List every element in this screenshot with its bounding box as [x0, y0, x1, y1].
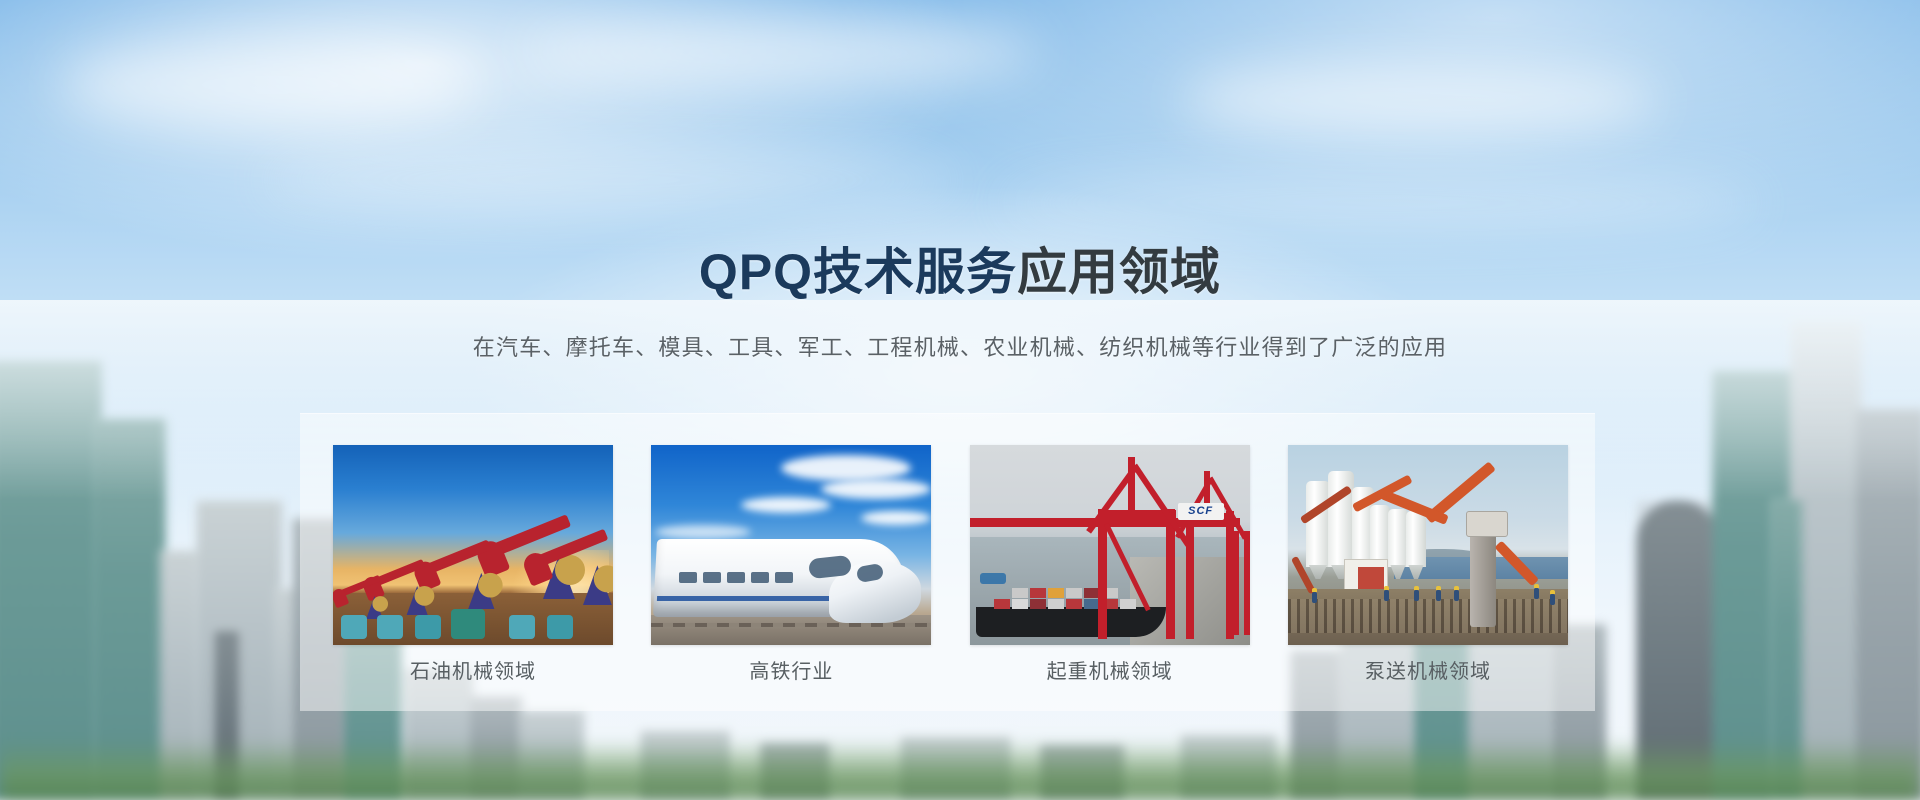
page-subtitle: 在汽车、摩托车、模具、工具、军工、工程机械、农业机械、纺织机械等行业得到了广泛的… [0, 330, 1920, 362]
list-item[interactable] [1288, 445, 1568, 645]
page-title-primary: QPQ技术服务 [699, 244, 1017, 300]
list-item[interactable] [651, 445, 931, 645]
list-item[interactable]: SCF [970, 445, 1250, 645]
port-gantry-cranes-photo: SCF [970, 445, 1250, 645]
card-caption-rail: 高铁行业 [651, 655, 931, 684]
card-caption-oil: 石油机械领域 [333, 655, 613, 684]
crane-brand-label: SCF [1178, 503, 1224, 520]
oil-pumpjacks-photo [333, 445, 613, 645]
list-item[interactable] [333, 445, 613, 645]
high-speed-train-photo [651, 445, 931, 645]
page-title-secondary: 应用领域 [1017, 244, 1221, 300]
card-caption-pump: 泵送机械领域 [1288, 655, 1568, 684]
card-caption-crane: 起重机械领域 [970, 655, 1250, 684]
page-title: QPQ技术服务应用领域 [0, 232, 1920, 304]
application-cards: SCF [333, 445, 1568, 645]
concrete-pump-photo [1288, 445, 1568, 645]
card-captions: 石油机械领域 高铁行业 起重机械领域 泵送机械领域 [333, 655, 1568, 684]
